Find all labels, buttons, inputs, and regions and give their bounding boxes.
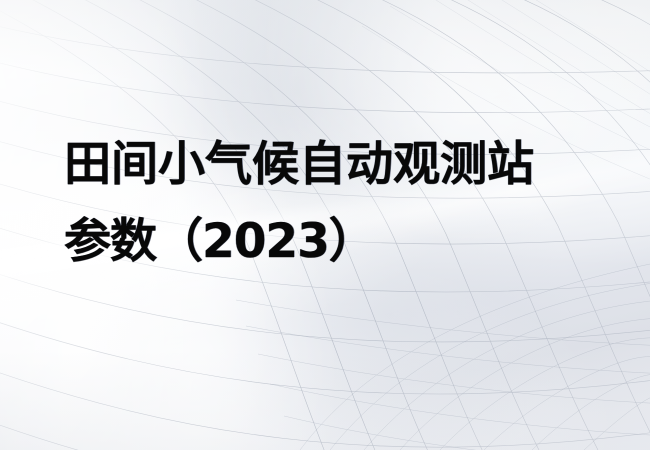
slide-canvas: 田间小气候自动观测站 参数（2023） — [0, 0, 650, 450]
title-line-1: 田间小气候自动观测站 — [64, 126, 604, 203]
title-line-2: 参数（2023） — [64, 203, 604, 280]
page-title: 田间小气候自动观测站 参数（2023） — [64, 126, 604, 280]
